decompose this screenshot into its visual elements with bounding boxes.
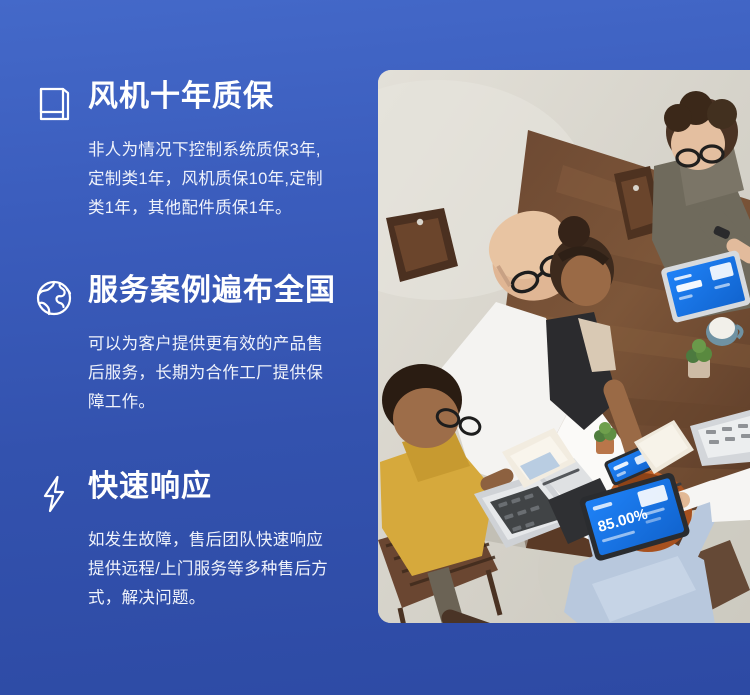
- globe-icon: [30, 274, 78, 322]
- lightning-bolt-icon: [30, 470, 78, 518]
- feature-line: 定制类1年，风机质保10年,定制: [88, 165, 370, 194]
- feature-description: 可以为客户提供更有效的产品售 后服务，长期为合作工厂提供保 障工作。: [88, 330, 370, 417]
- promo-banner: 风机十年质保 非人为情况下控制系统质保3年, 定制类1年，风机质保10年,定制 …: [0, 0, 750, 695]
- feature-line: 障工作。: [88, 388, 370, 417]
- team-meeting-photo: 85.00%: [378, 70, 750, 623]
- feature-title: 快速响应: [88, 466, 212, 508]
- feature-line: 如发生故障，售后团队快速响应: [88, 526, 370, 555]
- feature-line: 类1年，其他配件质保1年。: [88, 194, 370, 223]
- book-icon: [30, 80, 78, 128]
- feature-line: 后服务，长期为合作工厂提供保: [88, 359, 370, 388]
- photo-illustration: 85.00%: [378, 70, 750, 623]
- feature-description: 非人为情况下控制系统质保3年, 定制类1年，风机质保10年,定制 类1年，其他配…: [88, 136, 370, 223]
- feature-list: 风机十年质保 非人为情况下控制系统质保3年, 定制类1年，风机质保10年,定制 …: [0, 0, 380, 695]
- feature-line: 非人为情况下控制系统质保3年,: [88, 136, 370, 165]
- feature-description: 如发生故障，售后团队快速响应 提供远程/上门服务等多种售后方 式，解决问题。: [88, 526, 370, 613]
- feature-title: 服务案例遍布全国: [88, 270, 336, 312]
- feature-line: 式，解决问题。: [88, 584, 370, 613]
- feature-line: 可以为客户提供更有效的产品售: [88, 330, 370, 359]
- feature-line: 提供远程/上门服务等多种售后方: [88, 555, 370, 584]
- feature-title: 风机十年质保: [88, 76, 274, 118]
